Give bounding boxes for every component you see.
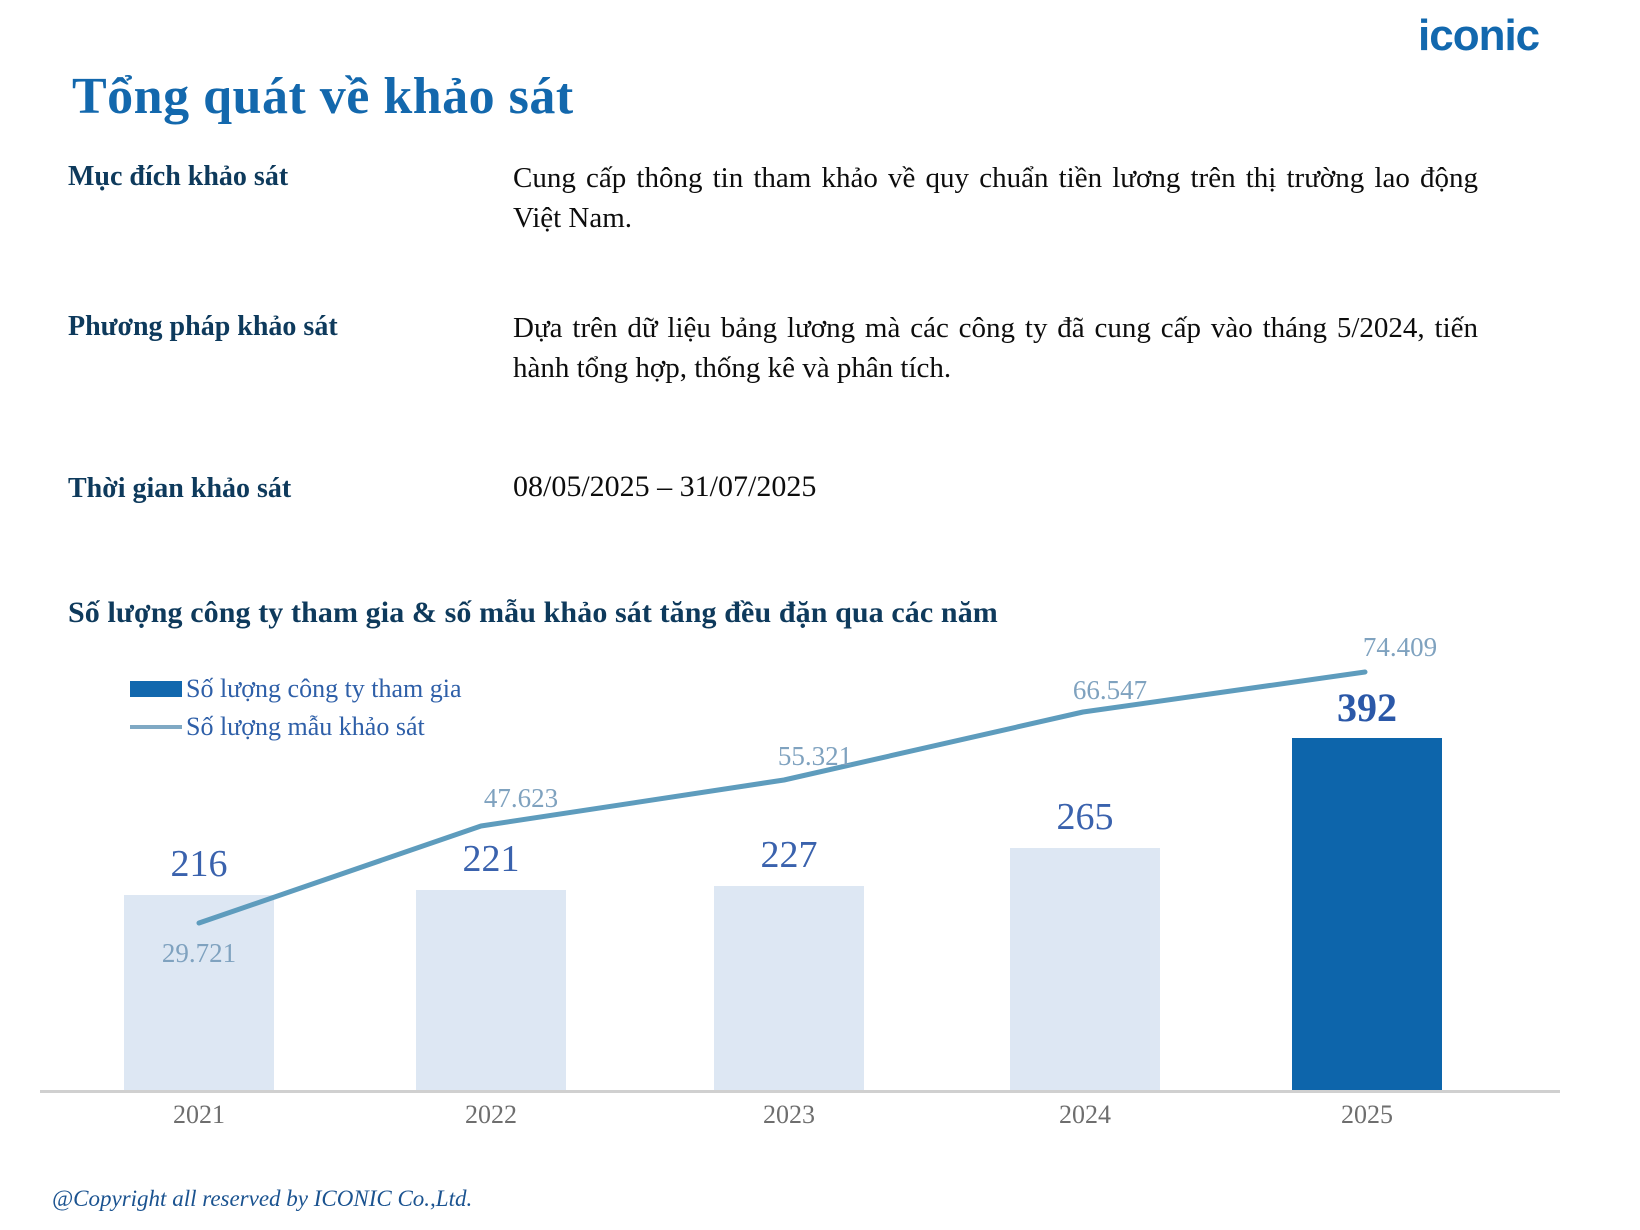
chart-heading: Số lượng công ty tham gia & số mẫu khảo … bbox=[68, 596, 998, 630]
info-value-purpose: Cung cấp thông tin tham khảo về quy chuẩ… bbox=[513, 158, 1478, 238]
line-value-2024: 66.547 bbox=[1035, 677, 1185, 704]
survey-growth-chart: Số lượng công ty tham gia Số lượng mẫu k… bbox=[40, 630, 1560, 1150]
x-axis-line bbox=[40, 1090, 1560, 1093]
x-tick-2025: 2025 bbox=[1292, 1100, 1442, 1130]
x-tick-2021: 2021 bbox=[124, 1100, 274, 1130]
slide-root: iconic Tổng quát về khảo sát Mục đích kh… bbox=[0, 0, 1640, 1230]
sample-count-line bbox=[40, 630, 1560, 1150]
x-tick-2023: 2023 bbox=[714, 1100, 864, 1130]
line-value-2021: 29.721 bbox=[124, 940, 274, 967]
x-tick-2022: 2022 bbox=[416, 1100, 566, 1130]
info-label-purpose: Mục đích khảo sát bbox=[68, 158, 488, 196]
info-value-period: 08/05/2025 – 31/07/2025 bbox=[513, 466, 1478, 507]
info-label-period: Thời gian khảo sát bbox=[68, 470, 488, 508]
info-label-method: Phương pháp khảo sát bbox=[68, 308, 488, 346]
line-value-2022: 47.623 bbox=[446, 785, 596, 812]
info-value-method: Dựa trên dữ liệu bảng lương mà các công … bbox=[513, 308, 1478, 388]
iconic-logo: iconic bbox=[1418, 14, 1539, 58]
page-title: Tổng quát về khảo sát bbox=[72, 67, 574, 127]
line-value-2025: 74.409 bbox=[1325, 634, 1475, 661]
x-tick-2024: 2024 bbox=[1010, 1100, 1160, 1130]
copyright-footer: @Copyright all reserved by ICONIC Co.,Lt… bbox=[52, 1186, 472, 1212]
line-value-2023: 55.321 bbox=[740, 743, 890, 770]
